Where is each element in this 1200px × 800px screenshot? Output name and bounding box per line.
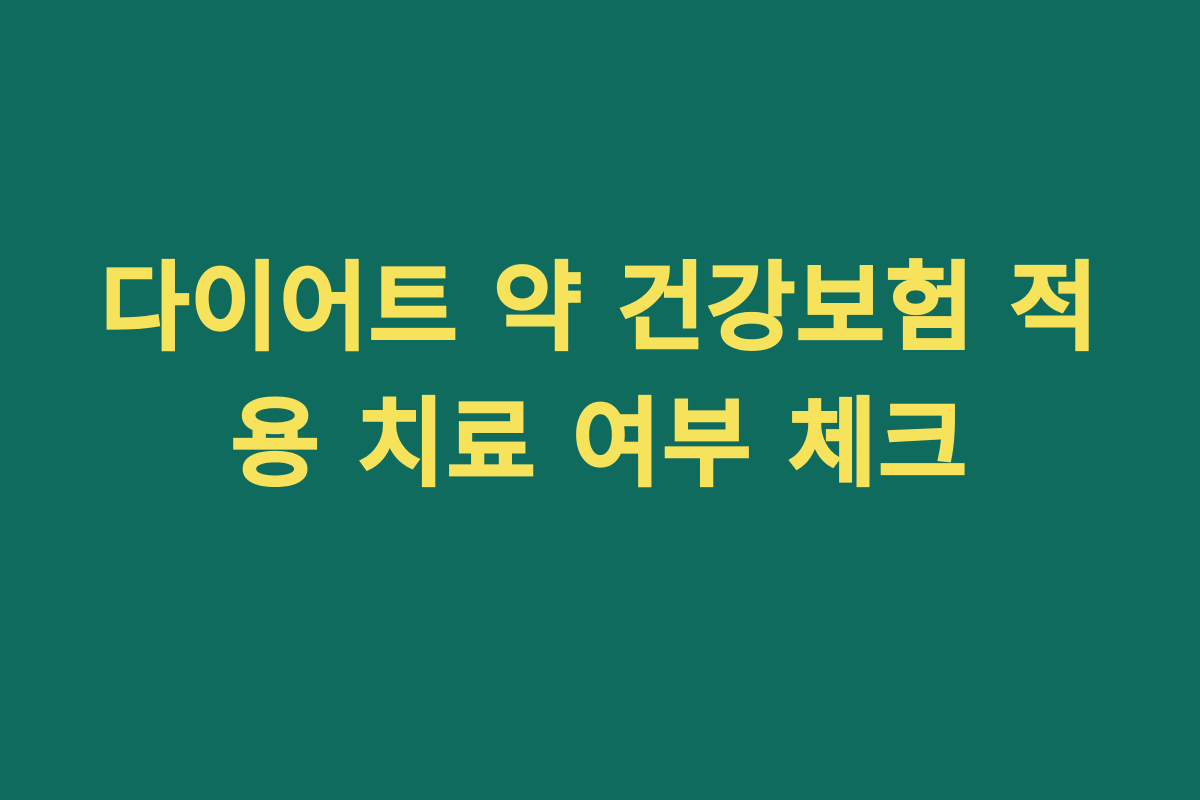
- headline-text-block: 다이어트 약 건강보험 적 용 치료 여부 체크: [70, 240, 1130, 513]
- banner-canvas: 다이어트 약 건강보험 적 용 치료 여부 체크: [0, 0, 1200, 800]
- headline-line-1: 다이어트 약 건강보험 적: [101, 240, 1099, 376]
- headline-line-2: 용 치료 여부 체크: [231, 376, 969, 512]
